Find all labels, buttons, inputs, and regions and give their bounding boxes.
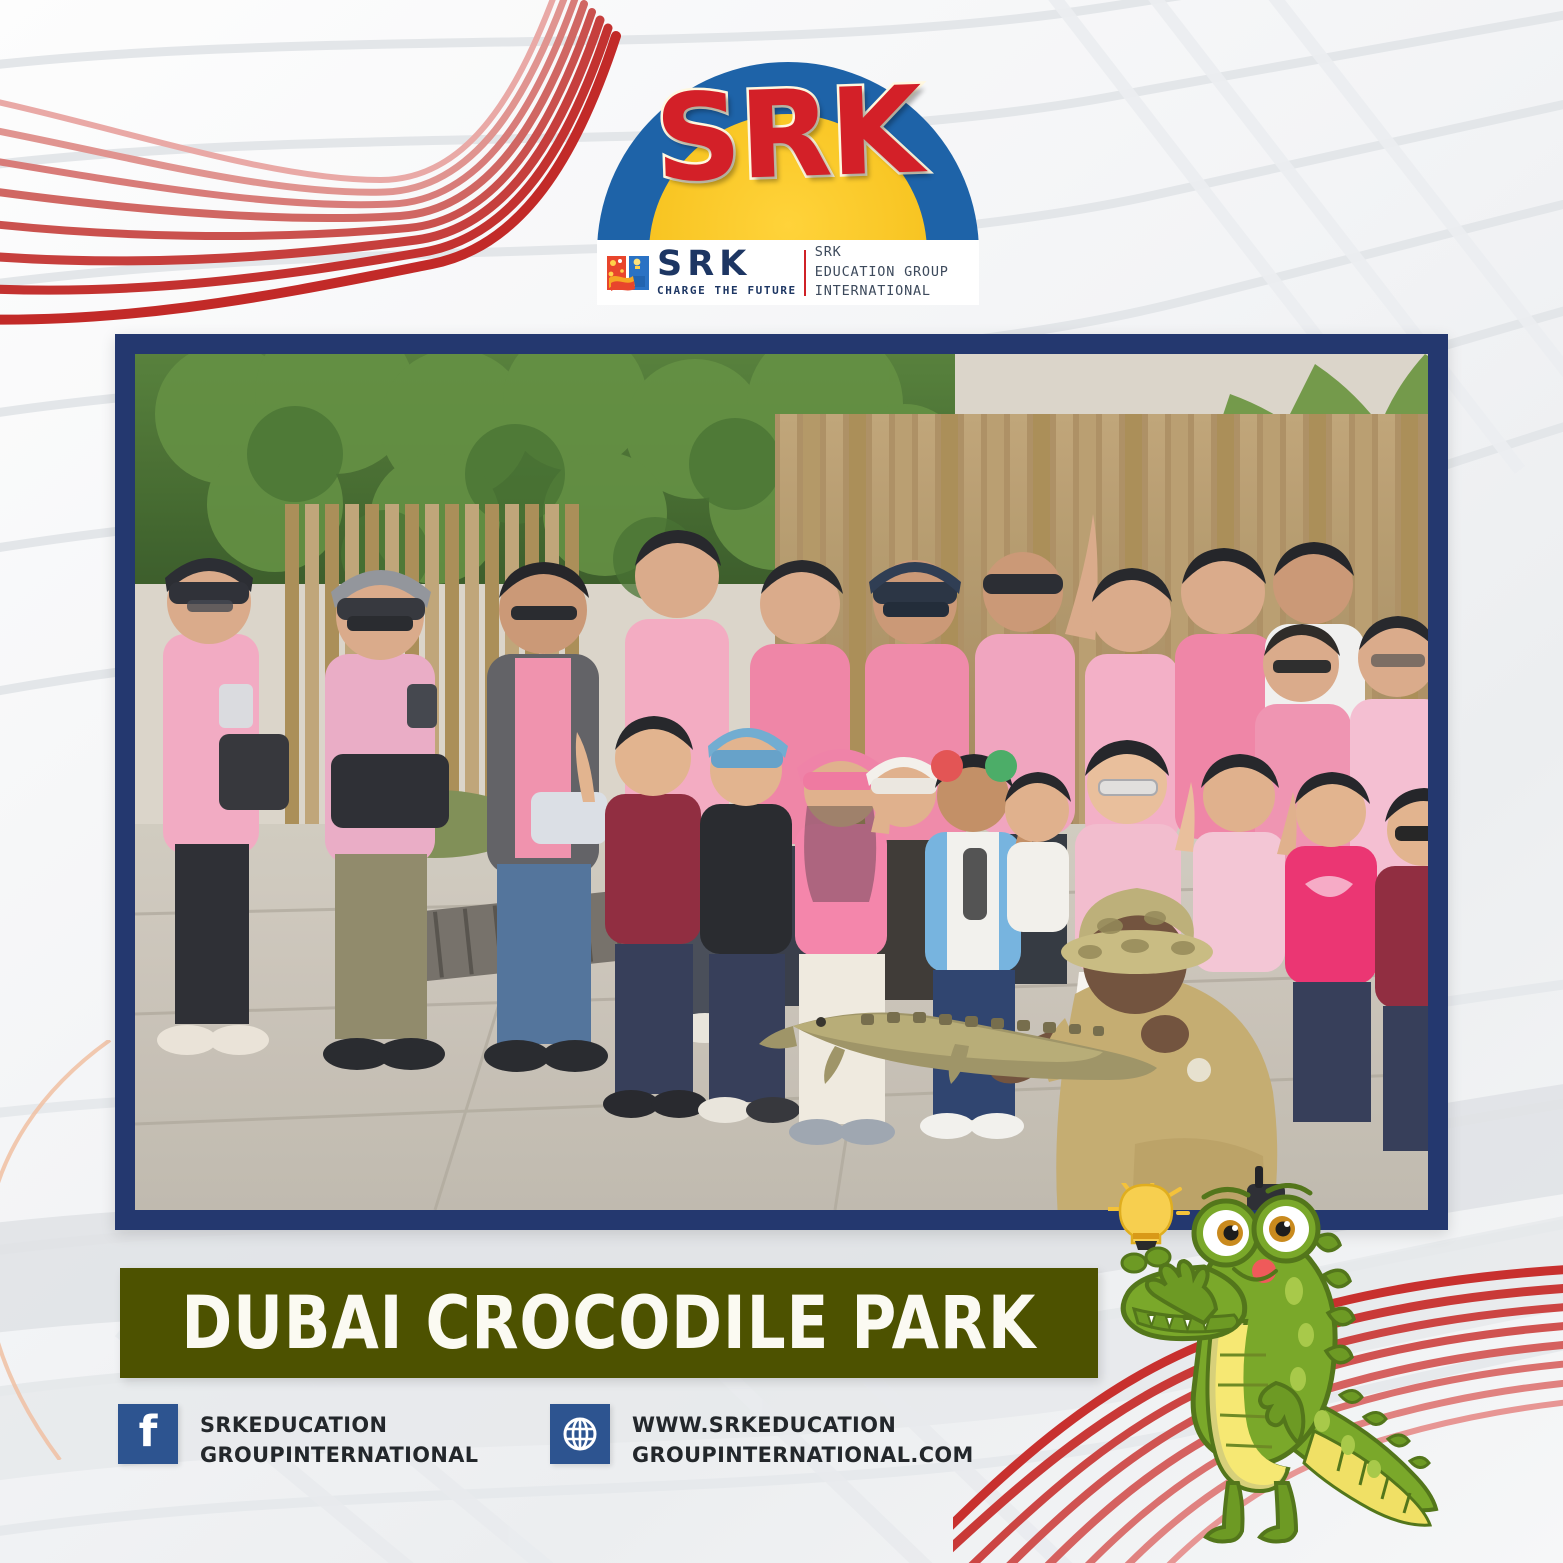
logo-plate-divider (804, 250, 806, 296)
footer-facebook-line2: GROUPINTERNATIONAL (200, 1441, 478, 1471)
footer-contacts: f SRKEDUCATION GROUPINTERNATIONAL WWW.SR… (118, 1404, 984, 1470)
logo-wordmark: SRK (595, 69, 981, 202)
logo-nameplate: SRK CHARGE THE FUTURE SRK EDUCATION GROU… (597, 240, 979, 305)
footer-facebook[interactable]: f SRKEDUCATION GROUPINTERNATIONAL (118, 1404, 487, 1470)
footer-website-text: WWW.SRKEDUCATION GROUPINTERNATIONAL.COM (632, 1404, 974, 1470)
logo-org-line1: SRK (815, 243, 949, 263)
crocodile-mascot (1108, 1183, 1478, 1555)
logo-hands-icon (605, 252, 651, 294)
decorative-red-ribbon-top-left (0, 0, 640, 370)
logo-plate-textblock: SRK CHARGE THE FUTURE (657, 248, 797, 296)
facebook-f-glyph: f (139, 1411, 158, 1454)
footer-facebook-text: SRKEDUCATION GROUPINTERNATIONAL (200, 1404, 478, 1470)
logo-org-line3: INTERNATIONAL (815, 282, 949, 302)
page-title: DUBAI CROCODILE PARK (182, 1281, 1037, 1366)
logo-plate-tagline: CHARGE THE FUTURE (657, 284, 797, 297)
logo-plate-orgname: SRK EDUCATION GROUP INTERNATIONAL (815, 243, 949, 302)
facebook-icon[interactable]: f (118, 1404, 178, 1464)
title-banner: DUBAI CROCODILE PARK (120, 1268, 1098, 1378)
logo-org-line2: EDUCATION GROUP (815, 263, 949, 283)
photo-frame (115, 334, 1448, 1230)
poster: SRK SRK CHARGE THE FUTURE (0, 0, 1563, 1563)
footer-website-line2: GROUPINTERNATIONAL.COM (632, 1441, 974, 1471)
logo-plate-brand: SRK (657, 248, 797, 281)
globe-icon[interactable] (550, 1404, 610, 1464)
footer-facebook-line1: SRKEDUCATION (200, 1411, 478, 1441)
footer-website-line1: WWW.SRKEDUCATION (632, 1411, 974, 1441)
footer-website[interactable]: WWW.SRKEDUCATION GROUPINTERNATIONAL.COM (550, 1404, 984, 1470)
srk-logo: SRK SRK CHARGE THE FUTURE (597, 62, 979, 305)
lightbulb-icon (1108, 1183, 1188, 1250)
group-photo (135, 354, 1428, 1210)
